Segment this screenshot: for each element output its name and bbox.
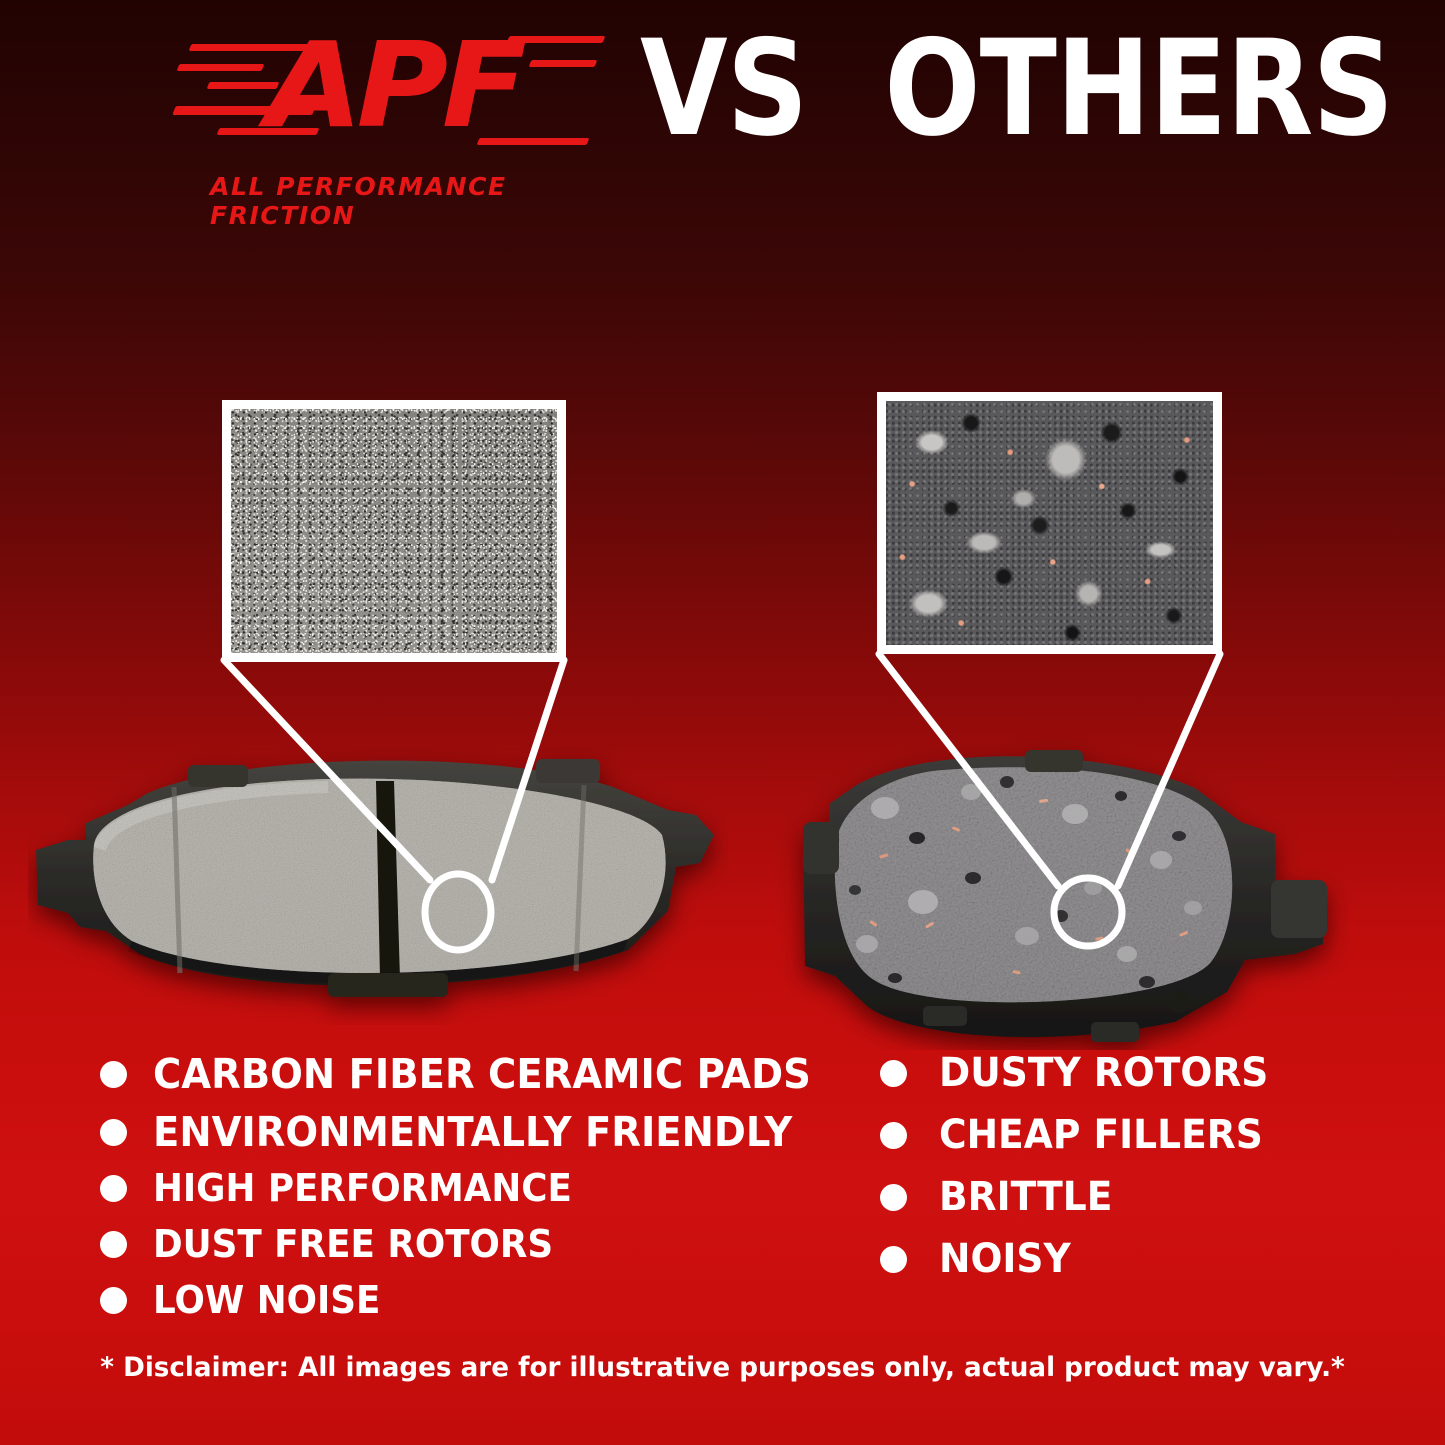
feature-label: BRITTLE [939,1174,1112,1220]
bullet-icon [100,1175,127,1202]
list-item: DUST FREE ROTORS [100,1222,800,1266]
feature-label: DUSTY ROTORS [939,1050,1268,1096]
apf-logo-text: APF [266,26,521,144]
bullet-icon [100,1119,127,1146]
list-item: NOISY [880,1236,1330,1282]
header: APF ALL PERFORMANCE FRICTION VS OTHERS [0,0,1445,230]
list-item: DUSTY ROTORS [880,1050,1330,1096]
speed-line-icon [507,36,606,43]
feature-label: HIGH PERFORMANCE [153,1166,572,1210]
feature-label: NOISY [939,1236,1071,1282]
speed-line-icon [529,60,598,67]
list-item: BRITTLE [880,1174,1330,1220]
bullet-icon [880,1246,907,1273]
list-item: ENVIRONMENTALLY FRIENDLY [100,1108,800,1156]
feature-label: ENVIRONMENTALLY FRIENDLY [153,1108,792,1156]
apf-logo-tagline: ALL PERFORMANCE FRICTION [210,172,598,230]
feature-label: CARBON FIBER CERAMIC PADS [153,1050,811,1098]
bullet-icon [100,1061,127,1088]
disclaimer-text: * Disclaimer: All images are for illustr… [22,1352,1424,1383]
apf-logo: APF ALL PERFORMANCE FRICTION [178,20,598,210]
brake-pad-others-svg [775,730,1350,1050]
infographic-canvas: APF ALL PERFORMANCE FRICTION VS OTHERS [0,0,1445,1445]
texture-inset-others [877,392,1222,654]
feature-label: DUST FREE ROTORS [153,1222,553,1266]
apf-logo-mark: APF [178,20,598,155]
bullet-icon [100,1287,127,1314]
list-item: CARBON FIBER CERAMIC PADS [100,1050,800,1098]
feature-list-apf: CARBON FIBER CERAMIC PADS ENVIRONMENTALL… [100,1050,800,1328]
brake-pad-apf-svg [28,735,728,1025]
bullet-icon [880,1122,907,1149]
feature-label: CHEAP FILLERS [939,1112,1263,1158]
brake-pad-apf-image [28,735,728,1025]
list-item: HIGH PERFORMANCE [100,1166,800,1210]
bullet-icon [100,1231,127,1258]
list-item: LOW NOISE [100,1278,800,1322]
speed-line-icon [177,64,265,71]
page-title: VS OTHERS [640,22,1393,154]
fine-ceramic-texture-image [231,409,557,653]
brake-pad-others-image [775,730,1350,1050]
texture-inset-apf [222,400,566,662]
feature-label: LOW NOISE [153,1278,380,1322]
bullet-icon [880,1060,907,1087]
bullet-icon [880,1184,907,1211]
coarse-filler-texture-image [886,401,1213,645]
list-item: CHEAP FILLERS [880,1112,1330,1158]
feature-list-others: DUSTY ROTORS CHEAP FILLERS BRITTLE NOISY [880,1050,1330,1298]
